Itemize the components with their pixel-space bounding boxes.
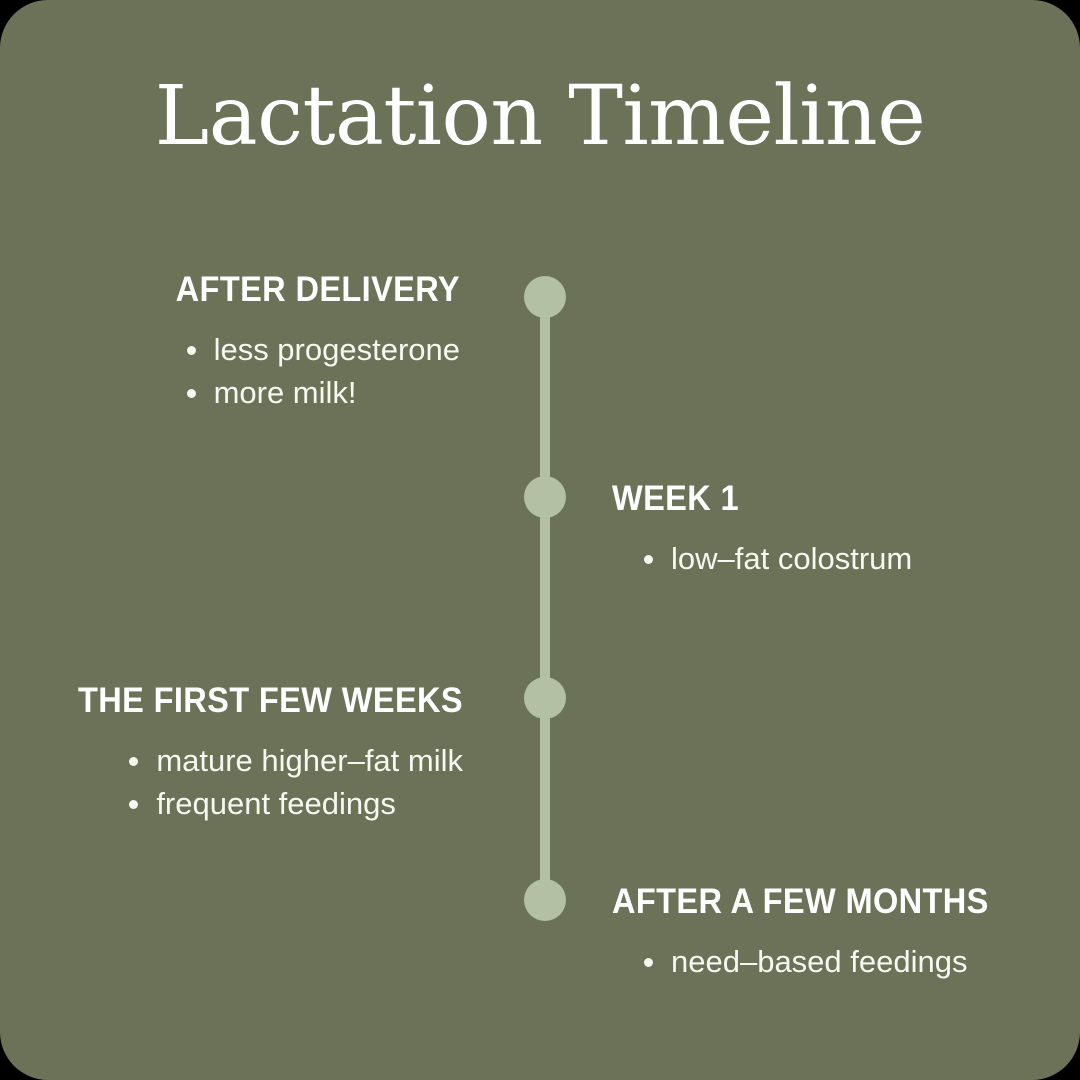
list-item: frequent feedings [123,783,463,826]
stage-bullet-list: less progesterone more milk! [181,329,460,415]
list-item-label: more milk! [214,375,357,410]
list-item-label: low–fat colostrum [671,541,912,576]
timeline-stage-week-1: WEEK 1 low–fat colostrum [612,481,1032,581]
stage-heading: WEEK 1 [612,481,1003,516]
infographic-card: Lactation Timeline AFTER DELIVERY less p… [0,0,1080,1080]
timeline-stage-after-delivery: AFTER DELIVERY less progesterone more mi… [60,272,460,415]
timeline-node-4 [524,879,566,921]
timeline-node-2 [524,476,566,518]
page-title: Lactation Timeline [0,72,1080,162]
timeline-spine [540,297,550,900]
list-item-label: frequent feedings [156,786,396,821]
stage-bullet-list: low–fat colostrum [638,538,912,581]
bullet-dot-icon [129,757,138,766]
list-item: less progesterone [181,329,460,372]
stage-heading: AFTER A FEW MONTHS [612,884,1003,919]
timeline-node-1 [524,276,566,318]
list-item-label: less progesterone [214,332,460,367]
bullet-dot-icon [187,389,196,398]
list-item: low–fat colostrum [638,538,912,581]
stage-bullet-list: need–based feedings [638,941,967,984]
timeline-stage-first-few-weeks: THE FIRST FEW WEEKS mature higher–fat mi… [20,683,463,826]
list-item-label: need–based feedings [671,944,967,979]
timeline-stage-after-a-few-months: AFTER A FEW MONTHS need–based feedings [612,884,1032,984]
stage-heading: THE FIRST FEW WEEKS [51,683,463,718]
bullet-dot-icon [129,800,138,809]
bullet-dot-icon [187,346,196,355]
stage-bullet-list: mature higher–fat milk frequent feedings [123,740,463,826]
bullet-dot-icon [644,555,653,564]
timeline-node-3 [524,677,566,719]
list-item-label: mature higher–fat milk [156,743,463,778]
stage-heading: AFTER DELIVERY [88,272,460,307]
list-item: mature higher–fat milk [123,740,463,783]
bullet-dot-icon [644,958,653,967]
list-item: more milk! [181,372,460,415]
list-item: need–based feedings [638,941,967,984]
